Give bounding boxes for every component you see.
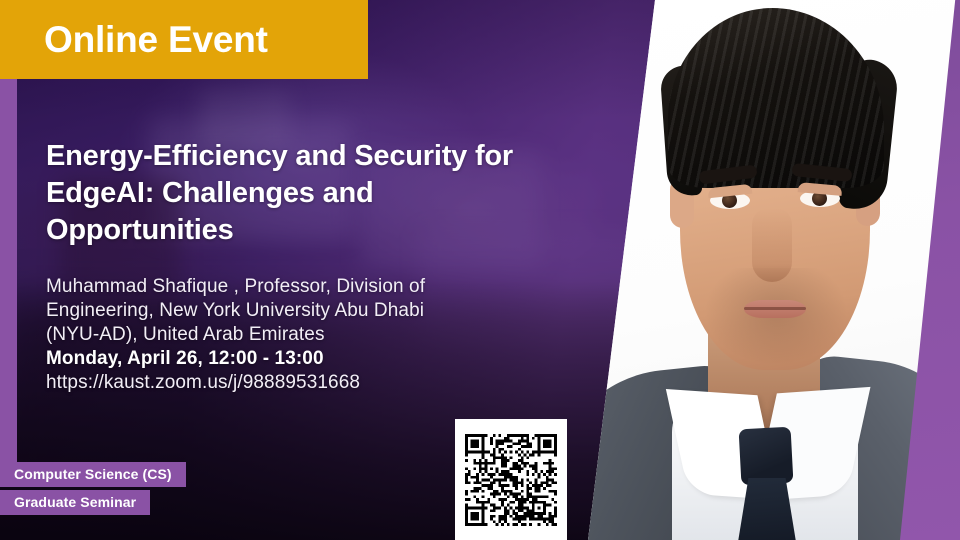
badge-row: Graduate Seminar (0, 487, 186, 515)
tie-knot (739, 427, 794, 486)
badge-row: Computer Science (CS) (0, 462, 186, 487)
event-content: Energy-Efficiency and Security for EdgeA… (46, 138, 566, 395)
online-event-banner: Online Event (0, 0, 368, 79)
qr-code-container (455, 419, 567, 540)
event-title: Energy-Efficiency and Security for EdgeA… (46, 138, 566, 249)
mouth-line (744, 307, 806, 310)
event-datetime: Monday, April 26, 12:00 - 13:00 (46, 347, 566, 371)
speaker-line-1: Muhammad Shafique , Professor, Division … (46, 275, 566, 299)
event-zoom-link[interactable]: https://kaust.zoom.us/j/98889531668 (46, 371, 566, 395)
category-badges: Computer Science (CS) Graduate Seminar (0, 462, 186, 515)
badge-computer-science: Computer Science (CS) (0, 462, 186, 487)
event-details: Muhammad Shafique , Professor, Division … (46, 275, 566, 395)
badge-graduate-seminar: Graduate Seminar (0, 490, 150, 515)
left-purple-stripe (0, 79, 17, 465)
online-event-label: Online Event (0, 21, 268, 58)
event-poster: Online Event Energy-Efficiency and Secur… (0, 0, 960, 540)
speaker-line-3: (NYU-AD), United Arab Emirates (46, 323, 566, 347)
nose (752, 208, 792, 282)
qr-code[interactable] (465, 434, 557, 526)
speaker-line-2: Engineering, New York University Abu Dha… (46, 299, 566, 323)
